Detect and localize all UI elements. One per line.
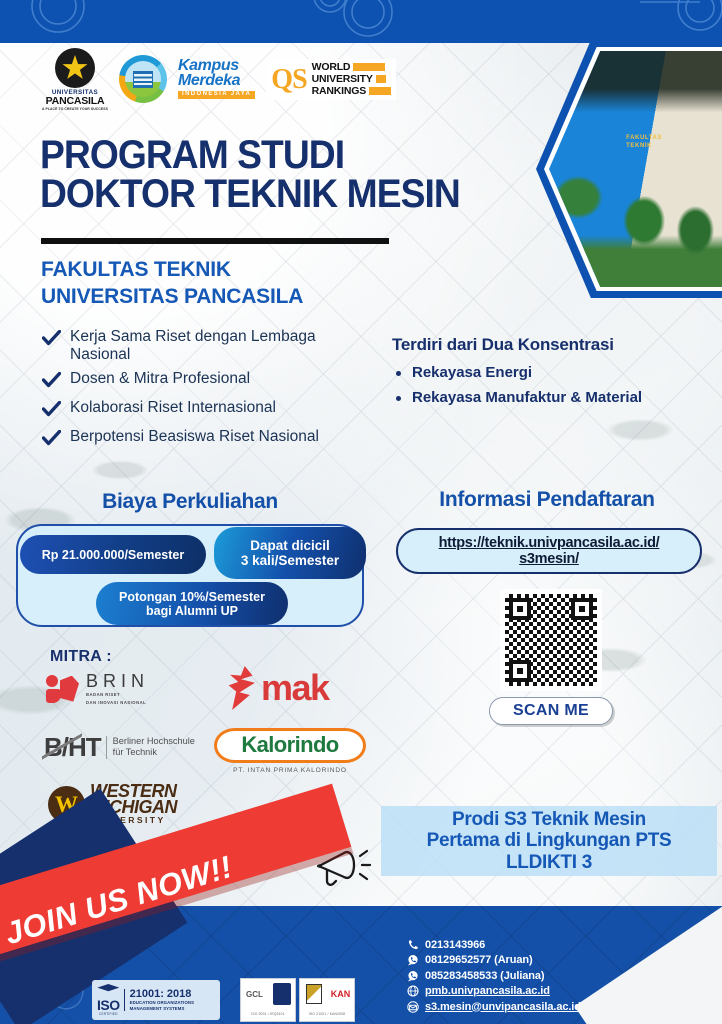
kalorindo-capsule: Kalorindo: [214, 728, 366, 763]
iso-mark: ISO: [97, 998, 120, 1012]
features-list: Kerja Sama Riset dengan Lembaga Nasional…: [42, 328, 362, 457]
qr-finder-bl: [509, 660, 531, 682]
registration-url-text: https://teknik.univpancasila.ac.id/s3mes…: [439, 535, 660, 567]
feature-text: Kerja Sama Riset dengan Lembaga Nasional: [70, 328, 362, 364]
contact-phone-text: 0213143966: [425, 939, 485, 951]
qs-line2: UNIVERSITY: [312, 74, 373, 85]
iso-mark-group: ISO CERTIFIED: [97, 984, 120, 1016]
list-item: Kerja Sama Riset dengan Lembaga Nasional: [42, 328, 362, 364]
feature-text: Berpotensi Beasiswa Riset Nasional: [70, 428, 319, 446]
brin-sub1: BADAN RISET: [86, 692, 149, 698]
km-line3: INDONESIA JAYA: [178, 91, 255, 100]
brin-wordmark: BRIN: [86, 672, 149, 690]
contact-whatsapp-juliana-text: 085283458533 (Juliana): [425, 970, 545, 982]
feature-text: Dosen & Mitra Profesional: [70, 370, 250, 388]
brin-logo: BRIN BADAN RISET DAN INOVASI NASIONAL: [46, 672, 149, 705]
iso-desc2: MANAGEMENT SYSTEMS: [130, 1006, 194, 1012]
globe-icon: [406, 985, 419, 998]
bht-wordmark: Berliner Hochschulefür Technik: [106, 736, 195, 759]
mak-logo: mak: [226, 666, 329, 710]
subtitle-line1: FAKULTAS TEKNIK: [41, 256, 303, 283]
check-icon: [42, 330, 61, 351]
check-icon: [42, 401, 61, 422]
biaya-box: Rp 21.000.000/Semester Dapat dicicil3 ka…: [16, 524, 364, 627]
konsentrasi-heading: Terdiri dari Dua Konsentrasi: [392, 335, 712, 355]
check-icon: [42, 430, 61, 451]
scan-me-button[interactable]: SCAN ME: [489, 697, 613, 725]
subtitle-line2: UNIVERSITAS PANCASILA: [41, 283, 303, 310]
prodi-banner: Prodi S3 Teknik MesinPertama di Lingkung…: [381, 806, 717, 876]
prodi-banner-text: Prodi S3 Teknik MesinPertama di Lingkung…: [427, 809, 672, 874]
subtitle: FAKULTAS TEKNIK UNIVERSITAS PANCASILA: [41, 256, 303, 311]
list-item: Dosen & Mitra Profesional: [42, 370, 362, 393]
qr-code[interactable]: [500, 589, 602, 691]
scan-me-label: SCAN ME: [513, 702, 589, 720]
kalorindo-wordmark: Kalorindo: [241, 732, 338, 757]
kan-label: KAN: [327, 979, 354, 1009]
contact-list: 0213143966 08129652577 (Aruan) 085283458…: [406, 938, 581, 1016]
mak-bird-icon: [226, 666, 260, 710]
poster-root: UNIVERSITAS PANCASILA A PLACE TO CREATE …: [0, 0, 722, 1024]
qr-finder-tr: [571, 598, 593, 620]
mak-wordmark: mak: [261, 670, 329, 706]
up-logo-line3: A PLACE TO CREATE YOUR SUCCESS: [42, 107, 108, 111]
list-item: Rekayasa Manufaktur & Material: [392, 389, 712, 406]
list-item: Rekayasa Energi: [392, 364, 712, 381]
mitra-label: MITRA :: [50, 648, 112, 666]
universitas-pancasila-logo: UNIVERSITAS PANCASILA A PLACE TO CREATE …: [42, 48, 108, 111]
qs-world-university-rankings-logo: QS WORLD UNIVERSITY RANKINGS: [266, 59, 396, 100]
up-logo-line2: PANCASILA: [46, 96, 105, 107]
gcl-certificate: GCL ISO 9001 / IRQ9101: [240, 978, 296, 1022]
building-icon: [133, 71, 153, 88]
contact-whatsapp-aruan-text: 08129652577 (Aruan): [425, 954, 533, 966]
title-line2: DOKTOR TEKNIK MESIN: [40, 175, 477, 214]
konsentrasi-list: Rekayasa Energi Rekayasa Manufaktur & Ma…: [392, 364, 712, 406]
contact-website-text: pmb.univpancasila.ac.id: [425, 985, 550, 997]
header-logos: UNIVERSITAS PANCASILA A PLACE TO CREATE …: [42, 48, 396, 111]
bht-mark: B/HT: [44, 734, 101, 760]
building-sign-label: FAKULTASTEKNIK: [626, 135, 662, 150]
check-icon: [42, 372, 61, 393]
gcl-label: GCL: [241, 979, 268, 1009]
kalorindo-sub: PT. INTAN PRIMA KALORINDO: [214, 767, 366, 774]
photo-image: [549, 51, 722, 287]
kalorindo-logo: Kalorindo PT. INTAN PRIMA KALORINDO: [214, 728, 366, 774]
brin-mark-icon: [46, 674, 80, 704]
fakultas-teknik-logo: [119, 55, 167, 103]
kan-certificate: KAN ISO 21001 / KAN2008: [299, 978, 355, 1022]
gcl-foot: ISO 9001 / IRQ9101: [241, 1012, 295, 1016]
contact-whatsapp-aruan: 08129652577 (Aruan): [406, 954, 581, 967]
list-item: Kolaborasi Riset Internasional: [42, 399, 362, 422]
biaya-pill-discount: Potongan 10%/Semesterbagi Alumni UP: [96, 582, 288, 625]
qs-bar-1: [353, 63, 385, 71]
biaya-pill-installment: Dapat dicicil3 kali/Semester: [214, 527, 366, 579]
title-underline: [41, 238, 389, 244]
certification-badges: GCL ISO 9001 / IRQ9101 KAN ISO 21001 / K…: [240, 978, 355, 1022]
ukas-mark: [268, 979, 295, 1009]
graduation-cap-icon: [97, 984, 119, 998]
iso-desc1: EDUCATION ORGANIZATIONS: [130, 1000, 194, 1006]
iso-mark-sub: CERTIFIED: [99, 1012, 118, 1016]
email-icon: [406, 1000, 419, 1013]
qs-line1: WORLD: [312, 62, 351, 73]
kan-foot: ISO 21001 / KAN2008: [300, 1012, 354, 1016]
iso-number: 21001: 2018: [130, 989, 194, 1001]
whatsapp-icon: [406, 954, 419, 967]
contact-email[interactable]: s3.mesin@unvipancasila.ac.id: [406, 1000, 581, 1013]
qs-mark: QS: [271, 67, 306, 92]
qs-bar-2: [376, 75, 386, 83]
qs-line3: RANKINGS: [312, 86, 366, 97]
qs-wordmark: WORLD UNIVERSITY RANKINGS: [312, 62, 391, 97]
km-line2: Merdeka: [178, 74, 255, 89]
qr-finder-tl: [509, 598, 531, 620]
informasi-heading: Informasi Pendaftaran: [382, 488, 712, 512]
phone-icon: [406, 938, 419, 951]
feature-text: Kolaborasi Riset Internasional: [70, 399, 276, 417]
qs-bar-3: [369, 87, 391, 95]
iso-badge: ISO CERTIFIED 21001: 2018 EDUCATION ORGA…: [92, 980, 220, 1020]
konsentrasi-section: Terdiri dari Dua Konsentrasi Rekayasa En…: [392, 335, 712, 414]
contact-email-text: s3.mesin@unvipancasila.ac.id: [425, 1001, 581, 1013]
contact-phone: 0213143966: [406, 938, 581, 951]
pancasila-crest-icon: [55, 48, 95, 88]
biaya-heading: Biaya Perkuliahan: [20, 490, 360, 514]
bht-logo: B/HT Berliner Hochschulefür Technik: [44, 734, 195, 760]
top-blue-band: [0, 0, 722, 43]
contact-website[interactable]: pmb.univpancasila.ac.id: [406, 985, 581, 998]
brin-sub2: DAN INOVASI NASIONAL: [86, 700, 149, 706]
iso-details: 21001: 2018 EDUCATION ORGANIZATIONS MANA…: [124, 989, 194, 1012]
kan-gold-mark: [300, 979, 327, 1009]
registration-url-button[interactable]: https://teknik.univpancasila.ac.id/s3mes…: [396, 528, 702, 574]
whatsapp-icon: [406, 969, 419, 982]
kampus-merdeka-logo: Kampus Merdeka INDONESIA JAYA: [178, 59, 255, 99]
page-title: PROGRAM STUDI DOKTOR TEKNIK MESIN: [40, 136, 477, 214]
list-item: Berpotensi Beasiswa Riset Nasional: [42, 428, 362, 451]
contact-whatsapp-juliana: 085283458533 (Juliana): [406, 969, 581, 982]
biaya-pill-tuition: Rp 21.000.000/Semester: [20, 535, 206, 574]
title-line1: PROGRAM STUDI: [40, 136, 477, 175]
